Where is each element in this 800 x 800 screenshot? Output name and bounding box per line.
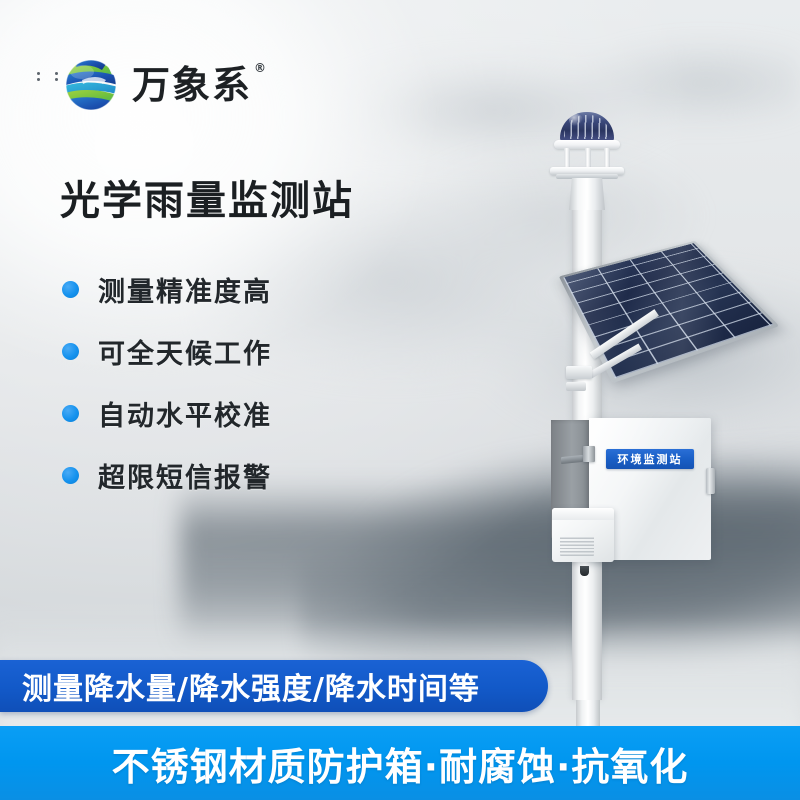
list-item: 超限短信报警: [62, 444, 272, 506]
brand-logo: 万象系 ®: [62, 56, 252, 114]
list-item: 自动水平校准: [62, 382, 272, 444]
bottom-banner: 不锈钢材质防护箱·耐腐蚀·抗氧化: [0, 726, 800, 800]
bullet-dot-icon: [62, 343, 79, 360]
list-item: 测量精准度高: [62, 258, 272, 320]
feature-list: 测量精准度高 可全天候工作 自动水平校准 超限短信报警: [62, 258, 272, 506]
product-poster: 环境监测站: [0, 0, 800, 800]
bottom-banner-text: 不锈钢材质防护箱·耐腐蚀·抗氧化: [112, 736, 689, 791]
feature-label: 自动水平校准: [98, 394, 272, 433]
globe-sphere-logo-icon: [62, 56, 120, 114]
registered-mark-icon: ®: [254, 62, 268, 74]
bullet-dot-icon: [62, 467, 79, 484]
brand-name: 万象系 ®: [132, 66, 252, 104]
feature-label: 测量精准度高: [98, 270, 272, 309]
bullet-dot-icon: [62, 281, 79, 298]
pill-banner: 测量降水量/降水强度/降水时间等: [0, 660, 548, 712]
brand-name-text: 万象系: [132, 63, 252, 107]
bullet-dot-icon: [62, 405, 79, 422]
list-item: 可全天候工作: [62, 320, 272, 382]
pill-banner-text: 测量降水量/降水强度/降水时间等: [22, 664, 480, 708]
feature-label: 可全天候工作: [98, 332, 272, 371]
feature-label: 超限短信报警: [98, 456, 272, 495]
page-title: 光学雨量监测站: [60, 168, 354, 226]
